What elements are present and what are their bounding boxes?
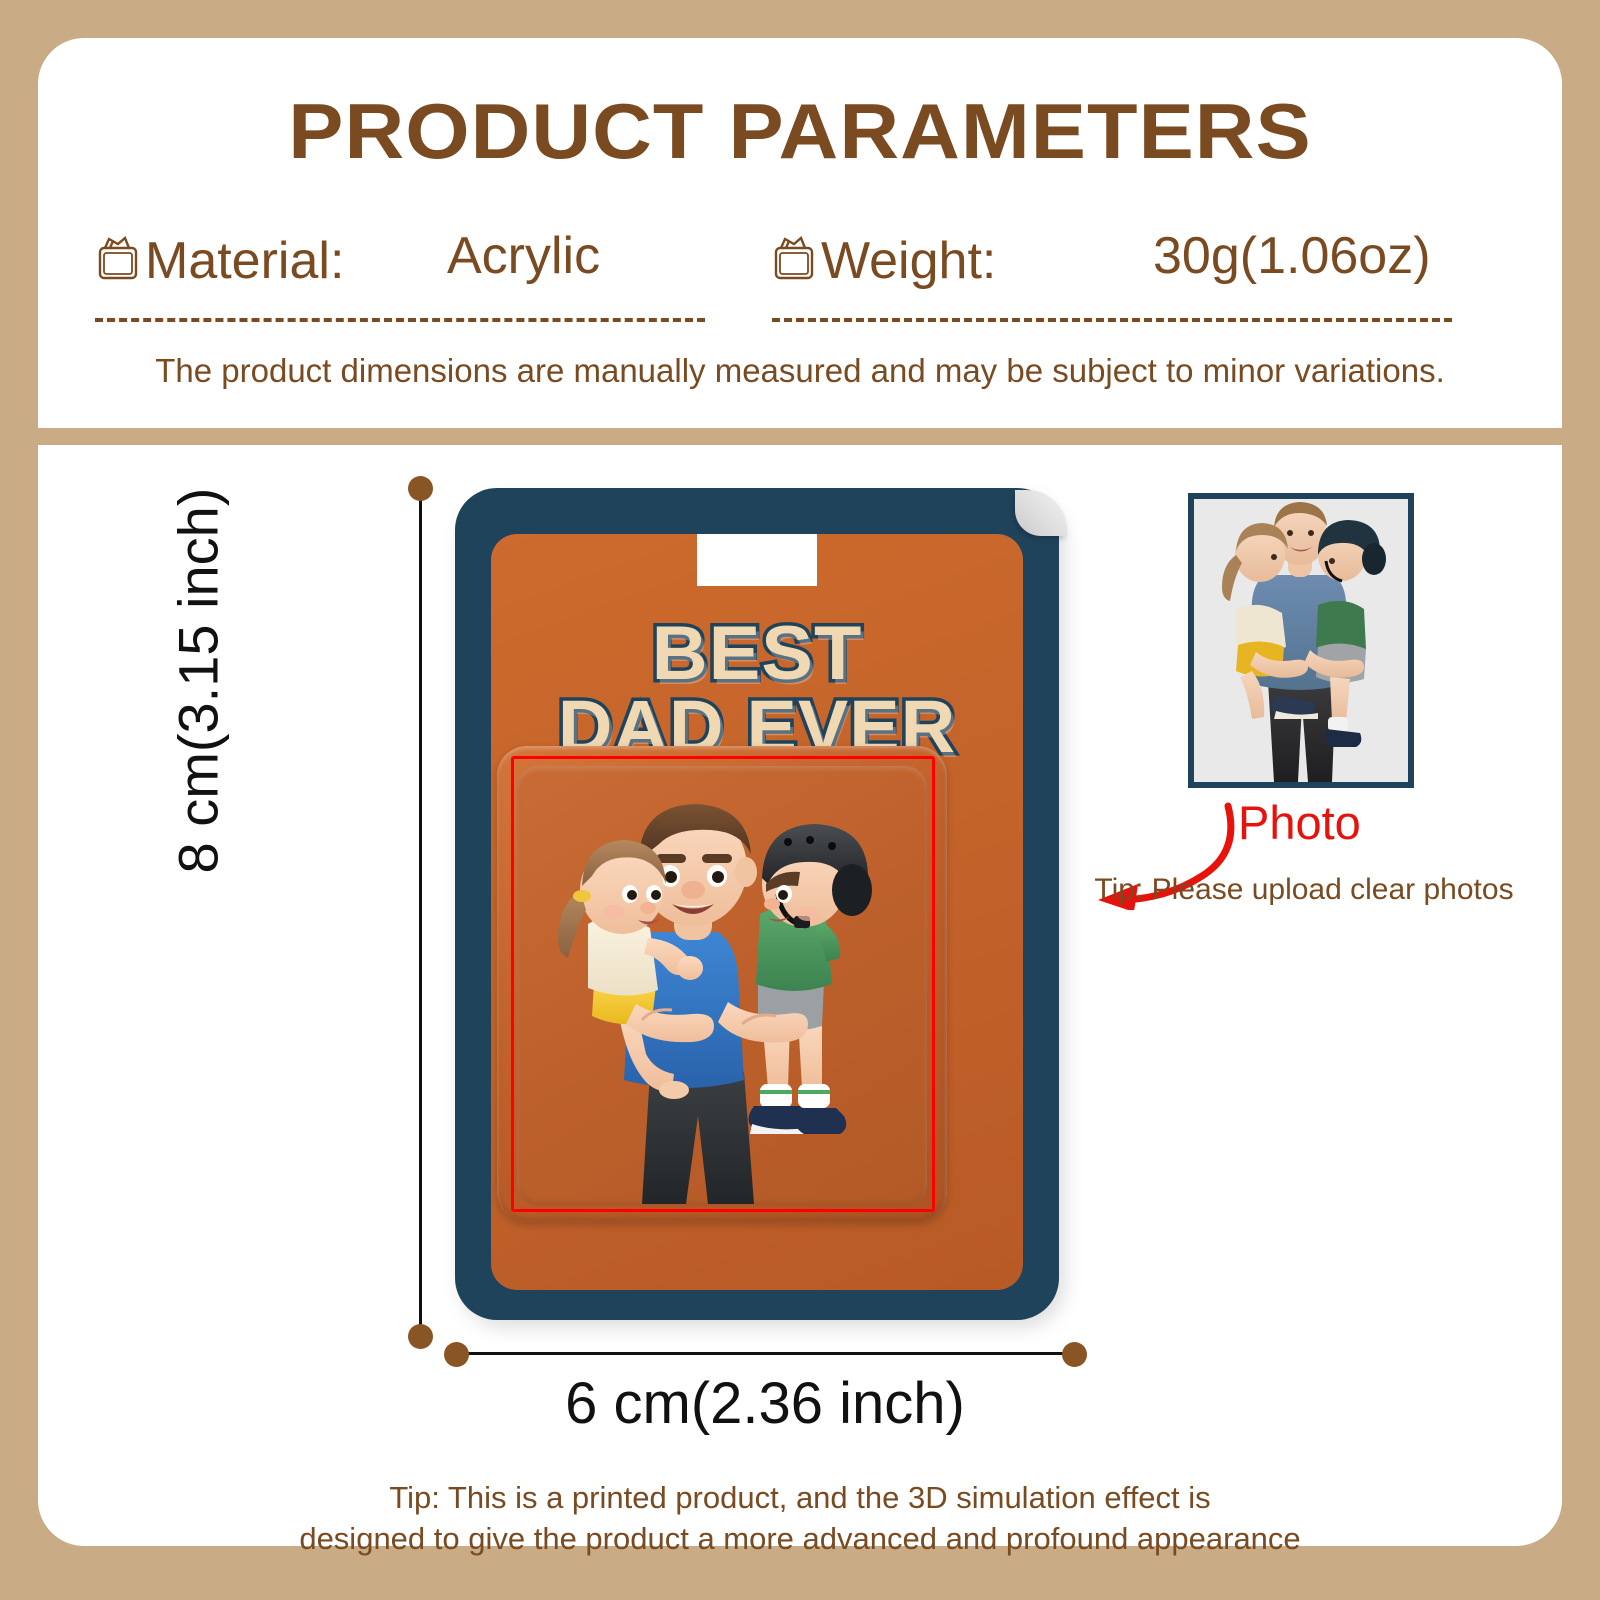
photo-thumbnail[interactable] [1188,493,1414,788]
spec-weight-value: 30g(1.06oz) [1153,226,1431,286]
width-dimension-dot-left [444,1342,469,1367]
package-box-icon [95,235,141,287]
height-dimension-label: 8 cm(3.15 inch) [166,421,231,941]
product-package: BEST DAD EVER [455,488,1065,1326]
height-dimension-dot-bottom [408,1324,433,1349]
spec-weight: Weight: 30g(1.06oz) [771,222,1515,300]
plastic-curl-tab-icon [1015,490,1067,536]
product-headline: BEST DAD EVER [491,618,1023,762]
width-dimension-dot-right [1062,1342,1087,1367]
spec-material: Material: Acrylic [95,222,705,300]
spec-weight-label: Weight: [821,231,996,291]
spec-underline-weight [772,318,1452,322]
height-dimension-line [419,486,422,1332]
spec-material-label: Material: [145,231,344,291]
package-backer-card: BEST DAD EVER [455,488,1059,1320]
height-dimension-dot-top [408,476,433,501]
page-title: PRODUCT PARAMETERS [0,86,1600,177]
plaque-highlight-box [511,756,935,1212]
footer-tip-line-1: Tip: This is a printed product, and the … [0,1478,1600,1519]
footer-tip-line-2: designed to give the product a more adva… [0,1519,1600,1560]
hang-hole-icon [697,534,817,586]
section-divider [38,428,1562,445]
photo-upload-tip: Tip: Please upload clear photos [1094,873,1514,907]
width-dimension-line [455,1352,1075,1355]
infographic-root: PRODUCT PARAMETERS Material: Acrylic [0,0,1600,1600]
spec-material-value: Acrylic [447,226,600,286]
spec-row: Material: Acrylic Weight: 30g(1.06oz) [95,222,1515,322]
spec-underline-material [95,318,705,322]
package-box-icon [771,235,817,287]
measurement-note: The product dimensions are manually meas… [0,352,1600,390]
width-dimension-label: 6 cm(2.36 inch) [400,1370,1130,1437]
headline-line-1: BEST [652,611,863,696]
footer-tip: Tip: This is a printed product, and the … [0,1478,1600,1560]
